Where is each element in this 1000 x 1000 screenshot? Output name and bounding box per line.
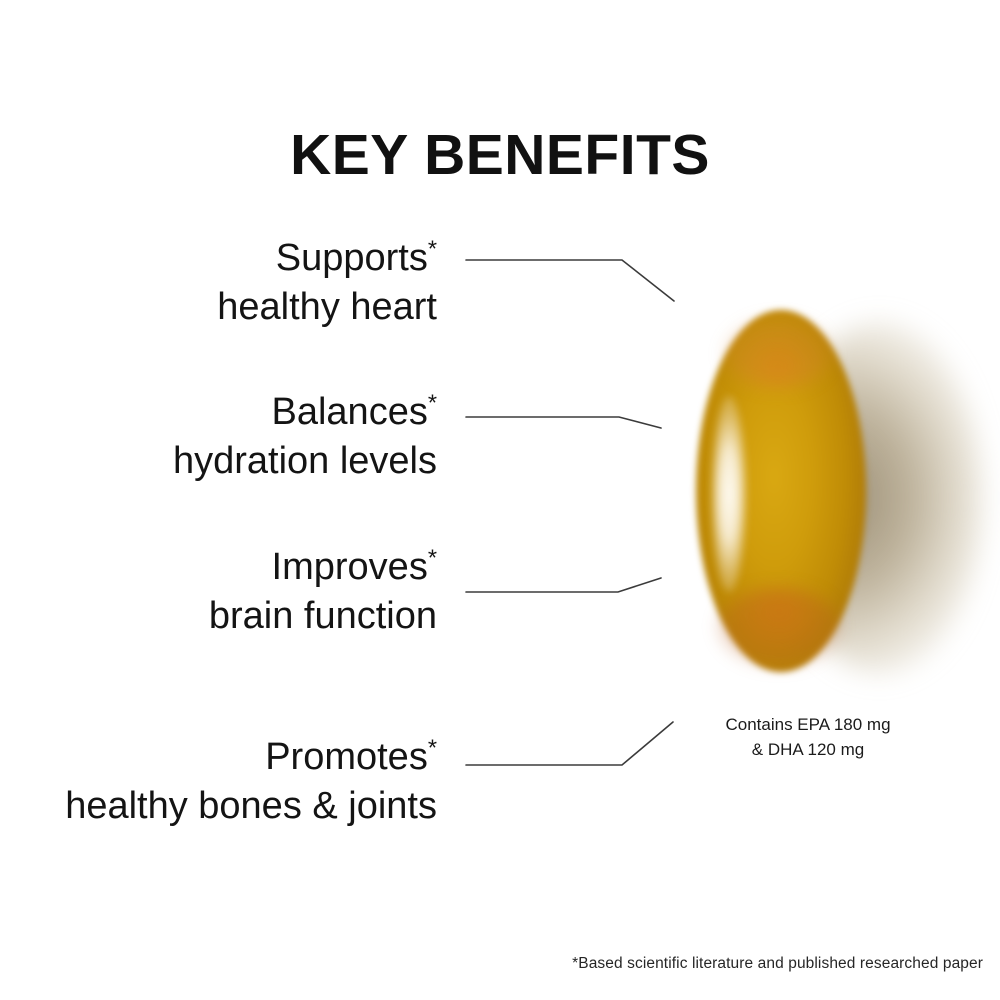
footnote-marker-icon: * <box>428 389 437 415</box>
benefit-item-brain: Improves* brain function <box>209 543 437 642</box>
capsule-top-sheen <box>724 318 832 388</box>
benefit-heart-line1-text: Supports <box>276 237 428 279</box>
benefit-brain-line1-text: Improves <box>272 546 428 588</box>
leader-line-bones <box>466 722 673 765</box>
benefit-hydration-line2: hydration levels <box>173 437 437 486</box>
benefit-bones-line1: Promotes* <box>65 733 437 782</box>
benefit-hydration-line1: Balances* <box>173 388 437 437</box>
epa-callout-line2: & DHA 120 mg <box>688 738 928 763</box>
leader-line-hydration <box>466 417 661 428</box>
infographic-canvas: KEY BENEFITS Supports* healthy heart Bal… <box>0 0 1000 1000</box>
footnote-marker-icon: * <box>428 235 437 261</box>
benefit-bones-line1-text: Promotes <box>265 736 428 778</box>
capsule-specular-highlight <box>712 396 746 592</box>
leader-line-brain <box>466 578 661 592</box>
benefit-item-heart: Supports* healthy heart <box>217 234 437 333</box>
epa-callout-line1: Contains EPA 180 mg <box>688 713 928 738</box>
epa-dha-callout: Contains EPA 180 mg & DHA 120 mg <box>688 713 928 762</box>
footnote-marker-icon: * <box>428 734 437 760</box>
footnote-text: *Based scientific literature and publish… <box>572 955 983 973</box>
softgel-capsule-image <box>660 300 990 700</box>
benefit-brain-line1: Improves* <box>209 543 437 592</box>
benefit-brain-line2: brain function <box>209 592 437 641</box>
footnote-marker-icon: * <box>428 544 437 570</box>
benefit-heart-line1: Supports* <box>217 234 437 283</box>
benefit-item-hydration: Balances* hydration levels <box>173 388 437 487</box>
benefit-hydration-line1-text: Balances <box>272 391 428 433</box>
page-title: KEY BENEFITS <box>0 126 1000 186</box>
benefit-bones-line2: healthy bones & joints <box>65 782 437 831</box>
benefit-heart-line2: healthy heart <box>217 283 437 332</box>
benefit-item-bones: Promotes* healthy bones & joints <box>65 733 437 832</box>
leader-line-heart <box>466 260 674 301</box>
capsule-bottom-tone <box>718 588 840 666</box>
